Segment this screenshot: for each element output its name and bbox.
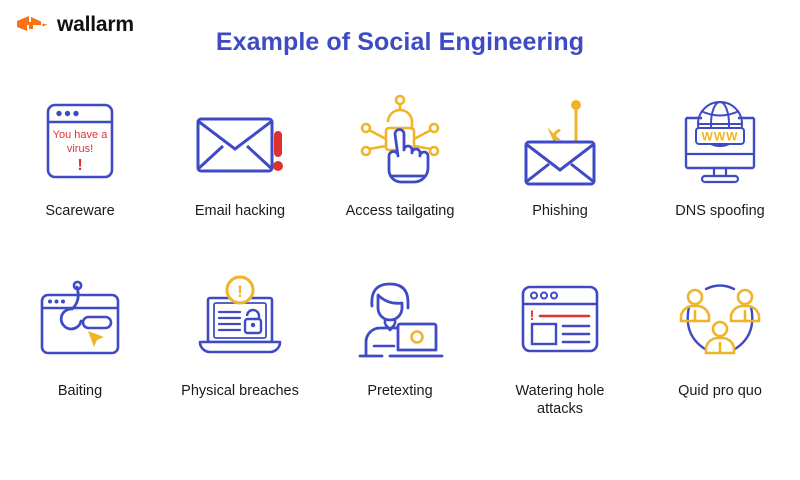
example-label-watering-hole-attacks: Watering hole attacks	[493, 382, 628, 418]
example-item-email-hacking[interactable]: Email hacking	[160, 92, 320, 272]
three-people-circle-icon	[673, 272, 767, 372]
example-item-baiting[interactable]: Baiting	[0, 272, 160, 447]
examples-row-1: You have a virus! ! Scareware Email ha	[0, 92, 800, 272]
watering-hole-badge-text: !	[530, 307, 535, 323]
browser-window-virus-warning-icon: You have a virus! !	[38, 92, 122, 192]
example-label-email-hacking: Email hacking	[195, 202, 285, 220]
example-item-watering-hole-attacks[interactable]: ! Watering hole attacks	[480, 272, 640, 447]
browser-window-hook-cursor-icon	[30, 272, 130, 372]
example-label-pretexting: Pretexting	[367, 382, 432, 400]
physical-breaches-badge-text: !	[237, 282, 243, 301]
person-at-laptop-icon	[352, 272, 448, 372]
network-lock-hand-pointer-icon	[355, 92, 445, 192]
example-item-pretexting[interactable]: Pretexting	[320, 272, 480, 447]
example-item-dns-spoofing[interactable]: WWW DNS spoofing	[640, 92, 800, 272]
social-engineering-examples-grid: You have a virus! ! Scareware Email ha	[0, 92, 800, 447]
example-item-access-tailgating[interactable]: Access tailgating	[320, 92, 480, 272]
envelope-fish-hook-icon	[514, 92, 606, 192]
example-label-baiting: Baiting	[58, 382, 102, 400]
laptop-lock-warning-icon: !	[190, 272, 290, 372]
example-label-quid-pro-quo: Quid pro quo	[678, 382, 762, 400]
dns-screen-text: WWW	[702, 130, 739, 144]
monitor-globe-www-icon: WWW	[670, 92, 770, 192]
example-item-scareware[interactable]: You have a virus! ! Scareware	[0, 92, 160, 272]
scareware-screen-text-line1: You have a	[53, 129, 109, 141]
scareware-screen-text-line2: virus!	[67, 143, 93, 155]
browser-window-alert-content-icon: !	[515, 272, 605, 372]
example-item-quid-pro-quo[interactable]: Quid pro quo	[640, 272, 800, 447]
example-item-phishing[interactable]: Phishing	[480, 92, 640, 272]
example-label-phishing: Phishing	[532, 202, 588, 220]
example-label-access-tailgating: Access tailgating	[346, 202, 455, 220]
examples-row-2: Baiting	[0, 272, 800, 447]
page-header: wallarm Example of Social Engineering	[0, 0, 800, 72]
page-title: Example of Social Engineering	[0, 28, 800, 57]
scareware-screen-text-line3: !	[77, 157, 82, 174]
example-item-physical-breaches[interactable]: ! Physical breaches	[160, 272, 320, 447]
example-label-scareware: Scareware	[45, 202, 114, 220]
example-label-dns-spoofing: DNS spoofing	[675, 202, 764, 220]
envelope-exclamation-icon	[190, 92, 290, 192]
example-label-physical-breaches: Physical breaches	[181, 382, 299, 400]
